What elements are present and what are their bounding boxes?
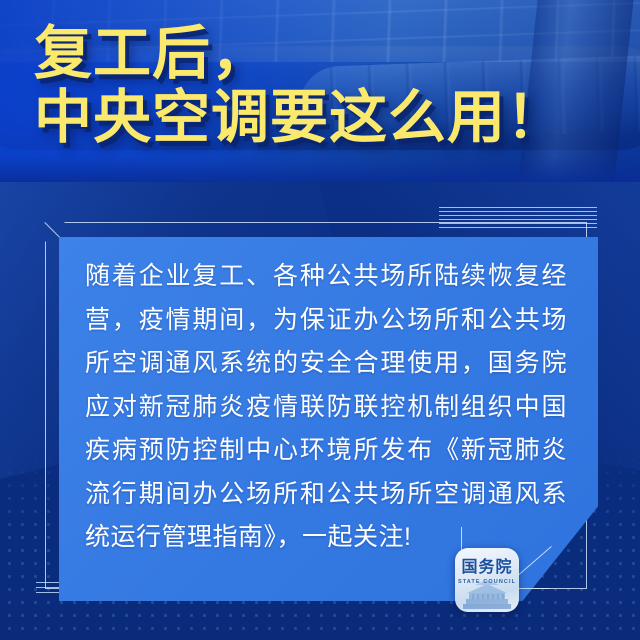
badge-name-cn: 国务院 [455, 560, 519, 576]
poster-title: 复工后， 中央空调要这么用！ [34, 22, 634, 150]
badge-name-en: STATE COUNCIL [455, 579, 519, 585]
poster-title-line-1: 复工后， [34, 21, 270, 86]
poster-root: 复工后， 中央空调要这么用！ 随着企业复工、各种公共场所陆续恢复经营，疫情期间，… [0, 0, 640, 640]
poster-title-line-2: 中央空调要这么用！ [34, 86, 634, 150]
body-paragraph: 随着企业复工、各种公共场所陆续恢复经营，疫情期间，为保证办公场所和公共场所空调通… [85, 255, 567, 560]
header-bottom-fade [0, 156, 640, 182]
state-council-badge: 国务院 STATE COUNCIL [455, 548, 519, 612]
